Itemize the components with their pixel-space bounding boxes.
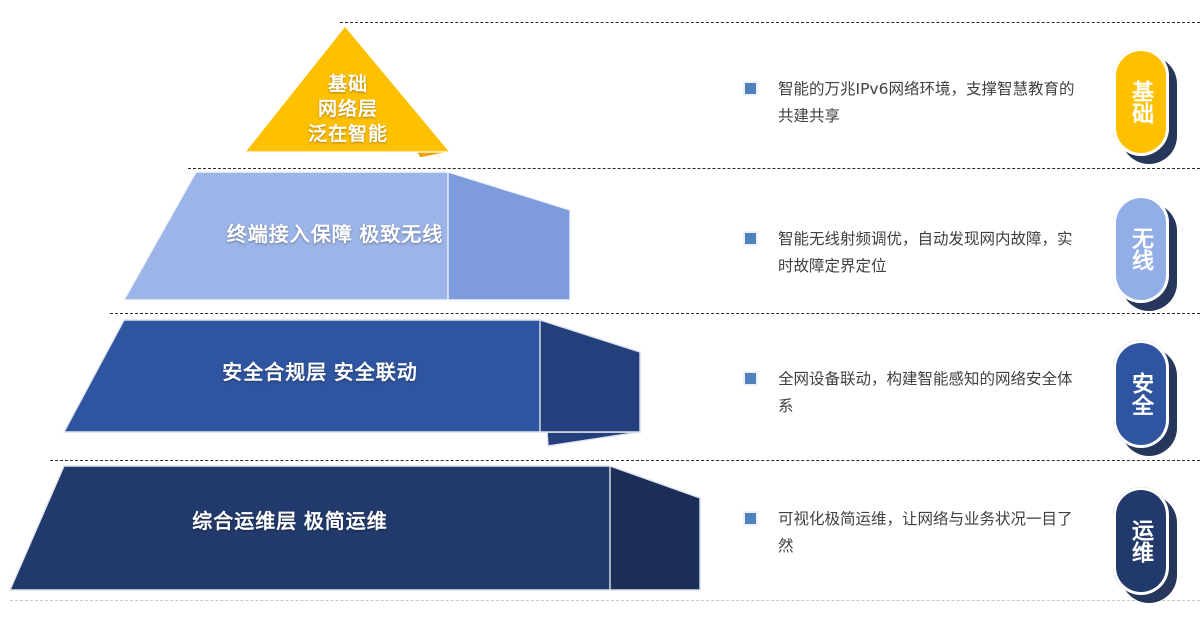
pyramid-layer-4-wedge: [610, 466, 700, 590]
pyramid-layer-4[interactable]: [10, 466, 700, 590]
description-text-3: 全网设备联动，构建智能感知的网络安全体系: [778, 366, 1075, 420]
pyramid-layer-2[interactable]: [124, 172, 570, 300]
divider-line-1: [188, 168, 1200, 169]
pill-label-3: 安全: [1113, 340, 1169, 448]
pill-badge-3[interactable]: 安全: [1113, 340, 1169, 448]
pyramid-layer-3[interactable]: [64, 320, 640, 446]
description-item-2: 智能无线射频调优，自动发现网内故障，实时故障定界定位: [745, 226, 1075, 280]
pill-badge-1[interactable]: 基础: [1113, 48, 1169, 156]
divider-line-3: [50, 460, 1200, 461]
pill-label-2: 无线: [1113, 195, 1169, 303]
diagram-canvas: 基础 网络层 泛在智能 终端接入保障 极致无线 安全合规层 安全联动 综合运维层…: [0, 0, 1200, 620]
pill-label-1: 基础: [1113, 48, 1169, 156]
pill-badge-4[interactable]: 运维: [1113, 487, 1169, 595]
bullet-square-icon: [745, 513, 756, 524]
description-text-2: 智能无线射频调优，自动发现网内故障，实时故障定界定位: [778, 226, 1075, 280]
bullet-square-icon: [745, 83, 756, 94]
bullet-square-icon: [745, 373, 756, 384]
pill-label-4: 运维: [1113, 487, 1169, 595]
pyramid-graphic: [0, 0, 780, 620]
description-item-4: 可视化极简运维，让网络与业务状况一目了然: [745, 506, 1075, 560]
pyramid-layer-1[interactable]: [245, 26, 450, 158]
pill-badge-2[interactable]: 无线: [1113, 195, 1169, 303]
description-item-3: 全网设备联动，构建智能感知的网络安全体系: [745, 366, 1075, 420]
pyramid-layer-3-wedge: [540, 320, 640, 432]
bullet-square-icon: [745, 233, 756, 244]
description-text-1: 智能的万兆IPv6网络环境，支撑智慧教育的共建共享: [778, 76, 1075, 130]
divider-line-bottom: [10, 600, 1200, 601]
pyramid-layer-2-wedge: [448, 172, 570, 300]
description-item-1: 智能的万兆IPv6网络环境，支撑智慧教育的共建共享: [745, 76, 1075, 130]
divider-line-2: [110, 313, 1200, 314]
pyramid-layer-4-front: [10, 466, 700, 590]
pyramid-layer-1-front: [245, 26, 450, 152]
divider-line-top: [340, 22, 1200, 23]
description-text-4: 可视化极简运维，让网络与业务状况一目了然: [778, 506, 1075, 560]
